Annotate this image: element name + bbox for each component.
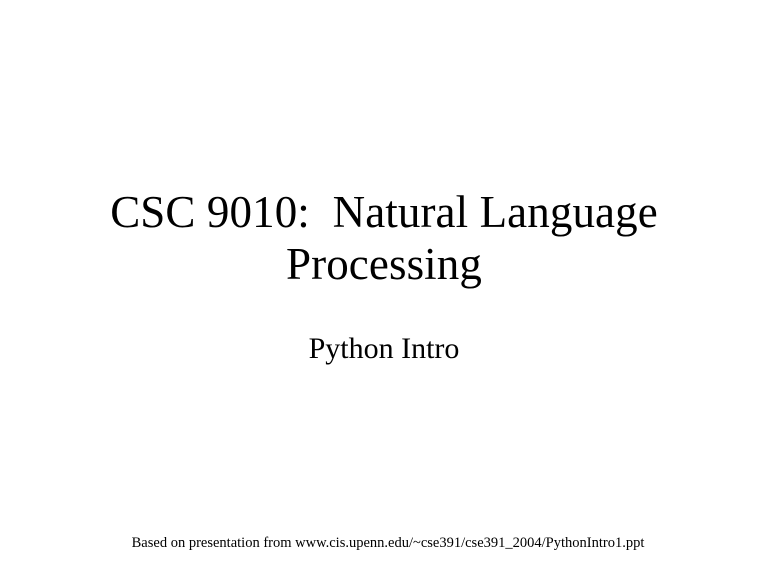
subtitle-placeholder: Python Intro	[84, 331, 684, 367]
title-placeholder: CSC 9010: Natural Language Processing	[84, 186, 684, 290]
page-subtitle: Python Intro	[84, 331, 684, 367]
presentation-slide: CSC 9010: Natural Language Processing Py…	[0, 0, 768, 576]
page-title: CSC 9010: Natural Language Processing	[84, 186, 684, 290]
source-attribution: Based on presentation from www.cis.upenn…	[40, 534, 736, 552]
footer-placeholder: Based on presentation from www.cis.upenn…	[40, 534, 736, 552]
